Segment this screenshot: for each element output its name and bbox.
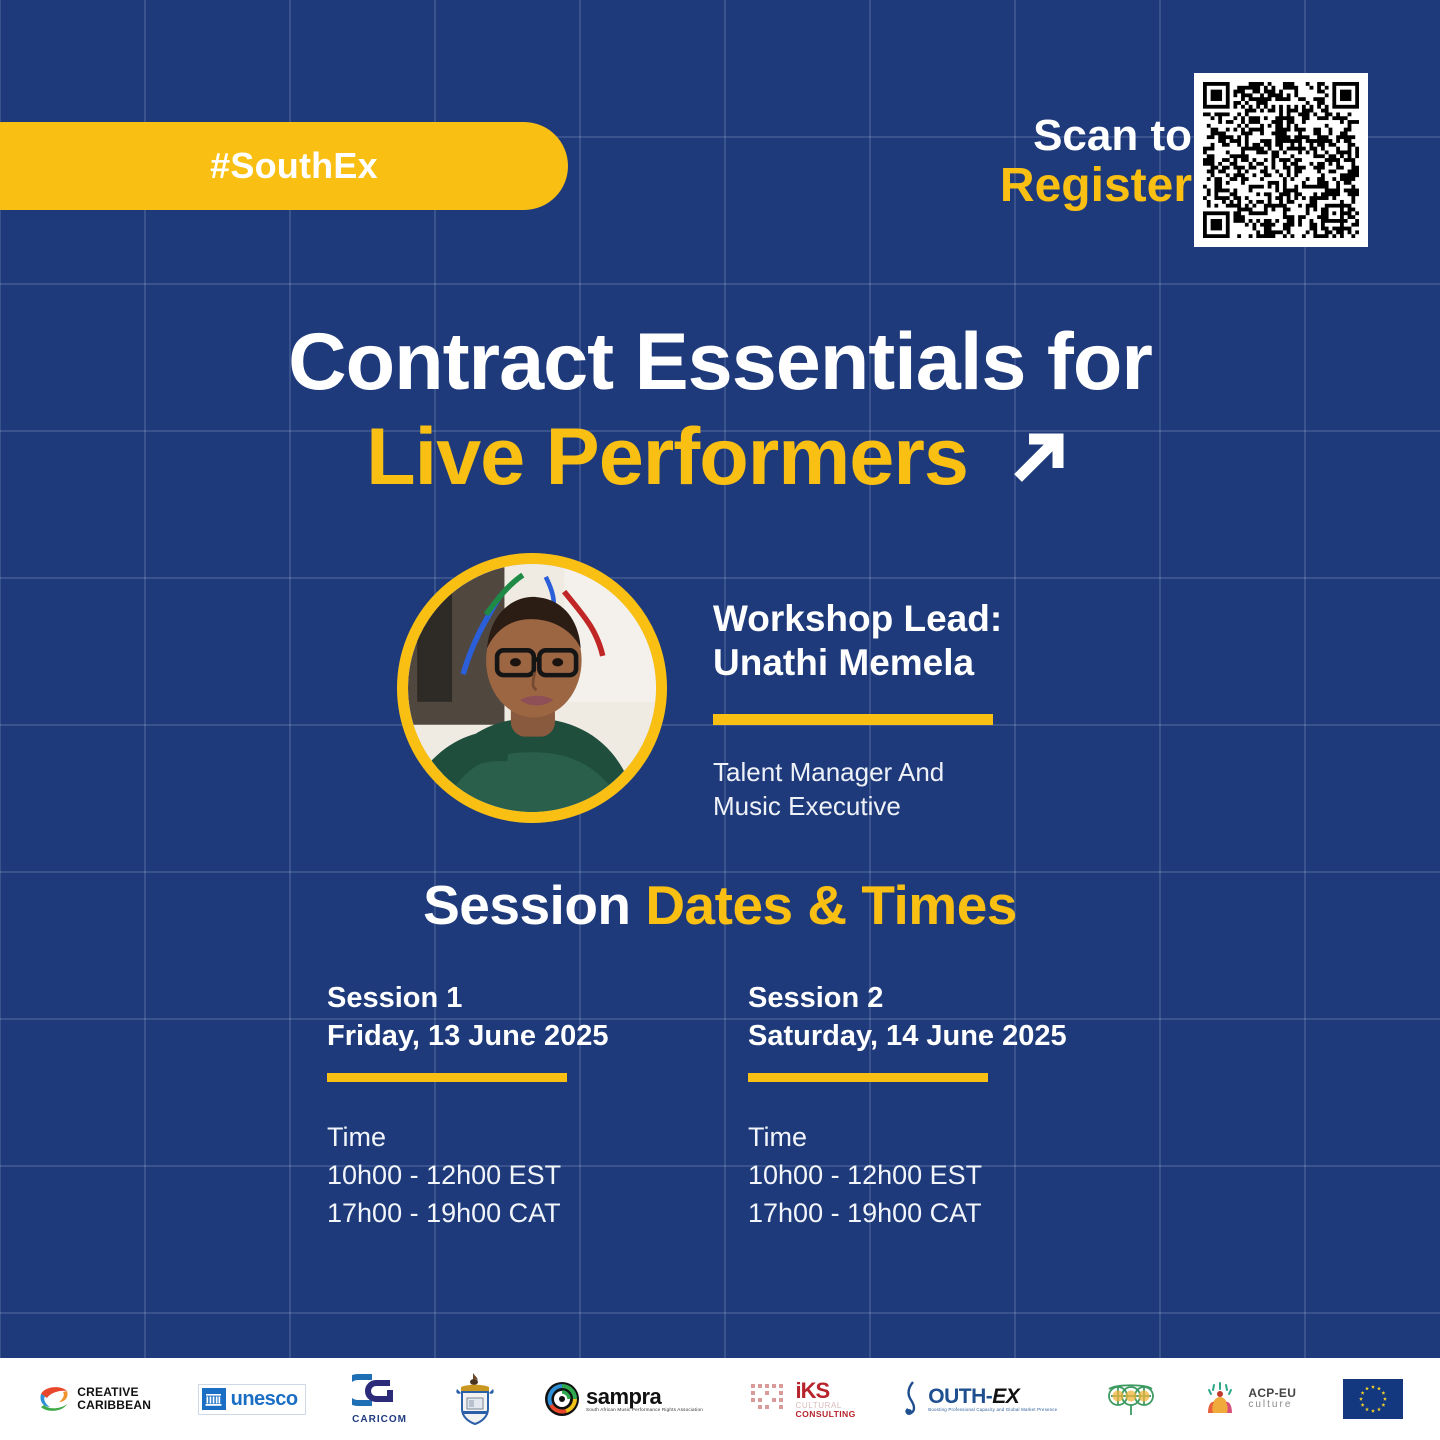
sampra-tagline: South African Music Performance Rights A… (586, 1408, 703, 1413)
hashtag-label: #SouthEx (150, 145, 378, 187)
poster-canvas: #SouthEx Scan to Register Contract Essen… (0, 0, 1440, 1440)
title-block: Contract Essentials for Live Performers (0, 322, 1440, 498)
iks-wordmark: iKS (796, 1379, 856, 1402)
unesco-temple-icon (202, 1388, 226, 1410)
caricom-wordmark: CARICOM (352, 1414, 407, 1425)
logo-oacps-acp (1104, 1380, 1156, 1418)
treble-clef-icon (902, 1379, 922, 1419)
session-divider (748, 1073, 988, 1082)
acp-eu-line-2: culture (1248, 1400, 1296, 1411)
unesco-wordmark: unesco (231, 1388, 298, 1411)
logo-uwi-crest (453, 1371, 497, 1427)
logo-creative-caribbean: CREATIVE CARIBBEAN (37, 1382, 151, 1416)
scan-to-register-block: Scan to Register (1000, 112, 1192, 211)
session-heading-white: Session (423, 874, 645, 936)
session-times: Time 10h00 - 12h00 EST 17h00 - 19h00 CAT (748, 1118, 1093, 1233)
uwi-crest-icon (453, 1371, 497, 1427)
logo-south-ex: OUTH-EX Boosting Professional Capacity a… (902, 1379, 1057, 1419)
hashtag-badge: #SouthEx (0, 122, 568, 210)
iks-sub-consulting: CONSULTING (796, 1410, 856, 1419)
logo-european-union-flag (1343, 1379, 1403, 1419)
logo-caricom: CARICOM (352, 1373, 407, 1425)
session-time-est: 10h00 - 12h00 EST (327, 1156, 672, 1194)
session-times: Time 10h00 - 12h00 EST 17h00 - 19h00 CAT (327, 1118, 672, 1233)
scan-line-2: Register (1000, 160, 1192, 212)
session-time-cat: 17h00 - 19h00 CAT (327, 1194, 672, 1232)
logo-iks-cultural-consulting: iKS CULTURAL CONSULTING (750, 1379, 856, 1420)
sampra-wordmark: sampra (586, 1385, 703, 1408)
acp-eu-culture-icon (1202, 1381, 1242, 1417)
session-time-label: Time (748, 1118, 1093, 1156)
eu-flag-icon (1343, 1379, 1403, 1419)
qr-code[interactable] (1194, 73, 1368, 247)
session-title: Session 1 Friday, 13 June 2025 (327, 979, 672, 1056)
session-time-cat: 17h00 - 19h00 CAT (748, 1194, 1093, 1232)
session-heading-yellow: Dates & Times (645, 874, 1017, 936)
session-title: Session 2 Saturday, 14 June 2025 (748, 979, 1093, 1056)
creative-caribbean-line-2: CARIBBEAN (77, 1399, 151, 1412)
sessions-list: Session 1 Friday, 13 June 2025 Time 10h0… (327, 979, 1093, 1233)
south-ex-tagline: Boosting Professional Capacity and Globa… (928, 1408, 1057, 1413)
logo-unesco: unesco (198, 1384, 306, 1415)
page-title-line-1: Contract Essentials for (0, 322, 1440, 403)
workshop-lead-row: Workshop Lead: Unathi Memela Talent Mana… (0, 553, 1440, 824)
logo-acp-eu-culture: ACP-EU culture (1202, 1381, 1296, 1417)
logo-sampra: sampra South African Music Performance R… (544, 1381, 703, 1417)
caricom-icon (352, 1373, 396, 1407)
session-card: Session 1 Friday, 13 June 2025 Time 10h0… (327, 979, 672, 1233)
session-time-est: 10h00 - 12h00 EST (748, 1156, 1093, 1194)
sampra-icon (544, 1381, 580, 1417)
presenter-portrait (397, 553, 667, 823)
south-ex-wordmark: OUTH-EX (928, 1386, 1057, 1408)
workshop-lead-heading: Workshop Lead: Unathi Memela (713, 597, 1043, 685)
iks-pattern-icon (750, 1382, 790, 1416)
session-dates-heading: Session Dates & Times (0, 873, 1440, 937)
lead-divider (713, 714, 993, 725)
session-time-label: Time (327, 1118, 672, 1156)
acp-icon (1104, 1380, 1156, 1418)
workshop-lead-role: Talent Manager And Music Executive (713, 756, 1043, 824)
session-card: Session 2 Saturday, 14 June 2025 Time 10… (748, 979, 1093, 1233)
qr-code-image (1203, 82, 1359, 238)
partner-logos-footer: CREATIVE CARIBBEAN unes (0, 1358, 1440, 1440)
creative-caribbean-icon (37, 1382, 71, 1416)
scan-line-1: Scan to (1000, 112, 1192, 160)
session-divider (327, 1073, 567, 1082)
arrow-up-right-icon (1002, 422, 1074, 494)
page-title-line-2: Live Performers (366, 417, 968, 498)
